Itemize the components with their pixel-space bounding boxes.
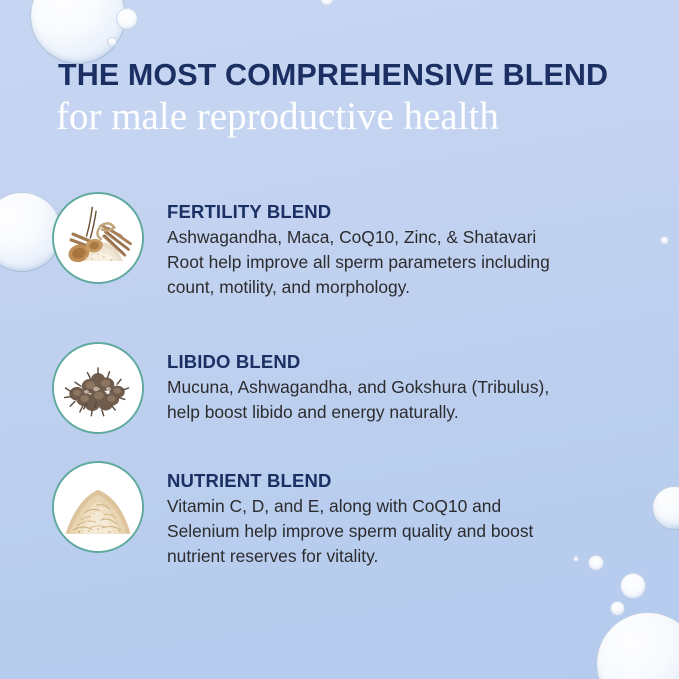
description-line: nutrient reserves for vitality. xyxy=(167,544,647,569)
blend-text-block: LIBIDO BLEND Mucuna, Ashwagandha, and Go… xyxy=(144,342,679,425)
ashwagandha-root-powder-icon xyxy=(52,192,144,284)
blend-title: NUTRIENT BLEND xyxy=(167,470,679,492)
list-item: NUTRIENT BLEND Vitamin C, D, and E, alon… xyxy=(0,461,679,569)
description-line: Vitamin C, D, and E, along with CoQ10 an… xyxy=(167,494,647,519)
bubble-icon xyxy=(610,601,625,616)
description-line: Root help improve all sperm parameters i… xyxy=(167,250,647,275)
blend-title: LIBIDO BLEND xyxy=(167,351,679,373)
bubble-icon xyxy=(30,0,126,64)
description-line: count, motility, and morphology. xyxy=(167,275,647,300)
bubble-icon xyxy=(620,573,646,599)
gokshura-tribulus-seeds-icon xyxy=(52,342,144,434)
list-item: LIBIDO BLEND Mucuna, Ashwagandha, and Go… xyxy=(0,342,679,434)
bubble-icon xyxy=(107,37,117,47)
bubble-icon xyxy=(596,612,679,679)
page-title: THE MOST COMPREHENSIVE BLEND for male re… xyxy=(58,58,638,139)
description-line: Mucuna, Ashwagandha, and Gokshura (Tribu… xyxy=(167,375,647,400)
bubble-icon xyxy=(320,0,334,6)
blend-description: Mucuna, Ashwagandha, and Gokshura (Tribu… xyxy=(167,375,647,425)
blend-text-block: NUTRIENT BLEND Vitamin C, D, and E, alon… xyxy=(144,461,679,569)
headline-primary: THE MOST COMPREHENSIVE BLEND xyxy=(58,58,638,92)
product-benefits-infographic: THE MOST COMPREHENSIVE BLEND for male re… xyxy=(0,0,679,679)
description-line: help boost libido and energy naturally. xyxy=(167,400,647,425)
list-item: FERTILITY BLEND Ashwagandha, Maca, CoQ10… xyxy=(0,192,679,300)
nutrient-powder-icon xyxy=(52,461,144,553)
blend-description: Ashwagandha, Maca, CoQ10, Zinc, & Shatav… xyxy=(167,225,647,300)
description-line: Selenium help improve sperm quality and … xyxy=(167,519,647,544)
blend-list: FERTILITY BLEND Ashwagandha, Maca, CoQ10… xyxy=(0,192,679,569)
bubble-icon xyxy=(116,8,138,30)
blend-text-block: FERTILITY BLEND Ashwagandha, Maca, CoQ10… xyxy=(144,192,679,300)
description-line: Ashwagandha, Maca, CoQ10, Zinc, & Shatav… xyxy=(167,225,647,250)
headline-secondary: for male reproductive health xyxy=(56,95,638,139)
blend-title: FERTILITY BLEND xyxy=(167,201,679,223)
blend-description: Vitamin C, D, and E, along with CoQ10 an… xyxy=(167,494,647,569)
